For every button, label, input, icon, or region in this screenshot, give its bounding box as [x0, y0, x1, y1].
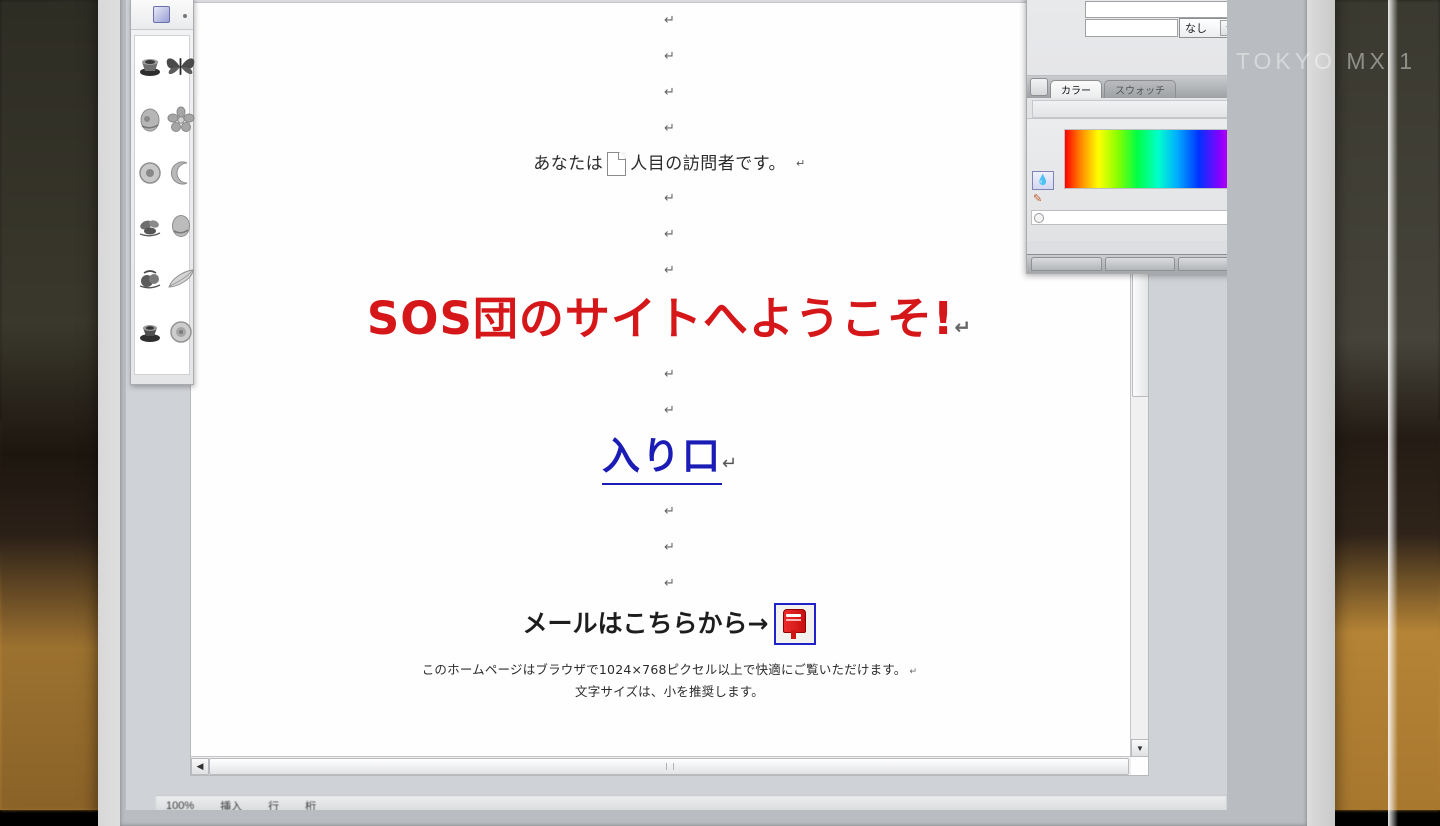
paragraph-mark [191, 39, 1148, 75]
tab-swatch[interactable]: スウォッチ [1104, 80, 1176, 98]
stamp-circle[interactable] [135, 146, 165, 199]
monitor-glass-highlight [1388, 0, 1398, 826]
mailbox-slot-lower [786, 619, 801, 621]
property-field-1[interactable] [1085, 1, 1227, 18]
status-item: 挿入 [220, 798, 242, 810]
paragraph-mark: ↵ [954, 315, 972, 339]
scroll-down-arrow-icon[interactable]: ▼ [1131, 739, 1149, 757]
stamp-cup2[interactable] [135, 305, 165, 358]
panel-bottom-tab[interactable] [1178, 257, 1227, 271]
footer-line-1-text: このホームページはブラウザで1024×768ピクセル以上で快適にご覧いただけます… [422, 662, 907, 677]
style-dropdown-value: なし [1180, 20, 1207, 36]
scroll-thumb-grip [666, 763, 674, 770]
paragraph-mark [191, 253, 1148, 289]
stamp-berry[interactable] [135, 252, 165, 305]
stamp-stone[interactable] [135, 93, 165, 146]
mail-link-text: メールはこちらから→ [523, 602, 769, 646]
panel-handle-icon[interactable] [1030, 78, 1048, 96]
paragraph-mark [191, 530, 1148, 566]
paragraph-mark [191, 181, 1148, 217]
panel-bottom-tab[interactable] [1105, 257, 1176, 271]
palette-stamp-grid[interactable] [134, 35, 190, 375]
footer-line-2-text: 文字サイズは、小を推奨します。 [191, 682, 1148, 701]
stamp-teacup[interactable] [135, 40, 165, 93]
paragraph-mark [191, 217, 1148, 253]
mailbox-icon[interactable] [774, 603, 816, 645]
panel-bottom-tabs[interactable] [1027, 254, 1227, 273]
status-item: 行 [268, 798, 279, 810]
visitor-counter-line: あなたは 人目の訪問者です。 ↵ [191, 147, 1148, 181]
panel-bottom-tab[interactable] [1031, 257, 1102, 271]
page-title-text: SOS団のサイトへようこそ! [367, 292, 955, 345]
stamp-disc[interactable] [165, 305, 197, 358]
right-dark-area [1320, 0, 1440, 810]
color-panel[interactable]: なし ▼ カラー スウォッチ ▸ 💧 ✎ [1026, 0, 1227, 274]
panel-subrow [1032, 100, 1227, 118]
mailbox-post [791, 630, 796, 639]
paragraph-mark [191, 357, 1148, 393]
palette-title-bar[interactable] [131, 0, 193, 30]
stamp-pebble[interactable] [165, 199, 197, 252]
entry-link[interactable]: 入り口 [602, 429, 722, 485]
paragraph-mark [191, 393, 1148, 429]
chevron-down-icon[interactable]: ▼ [1220, 20, 1227, 36]
property-field-2[interactable] [1085, 19, 1178, 37]
paragraph-mark [191, 111, 1148, 147]
paragraph-mark [191, 75, 1148, 111]
footer-note: このホームページはブラウザで1024×768ピクセル以上で快適にご覧いただけます… [191, 660, 1148, 701]
status-bar: 100% 挿入 行 桁 [156, 795, 1226, 810]
color-picker-body[interactable]: 💧 ✎ [1027, 118, 1227, 241]
alpha-strip[interactable] [1031, 210, 1227, 225]
paragraph-mark: ↵ [906, 667, 917, 677]
spacer [191, 646, 1148, 660]
footer-line-1: このホームページはブラウザで1024×768ピクセル以上で快適にご覧いただけます… [191, 660, 1148, 682]
page-title: SOS団のサイトへようこそ!↵ [191, 289, 1148, 357]
web-page-preview[interactable]: あなたは 人目の訪問者です。 ↵ SOS団のサイトへようこそ!↵ 入り口↵ メー… [191, 3, 1148, 775]
hue-spectrum[interactable] [1064, 129, 1227, 189]
horizontal-scrollbar[interactable]: ◀ [191, 756, 1131, 775]
stamp-feather[interactable] [165, 252, 197, 305]
status-item: 桁 [305, 798, 316, 810]
mail-link-line: メールはこちらから→ [191, 602, 1148, 646]
tab-color[interactable]: カラー [1050, 80, 1102, 98]
square-icon[interactable] [153, 6, 170, 23]
eyedropper-icon[interactable]: 💧 [1032, 171, 1054, 190]
paragraph-mark: ↵ [796, 147, 806, 181]
left-dark-area [0, 0, 104, 810]
stamp-butterfly[interactable] [165, 40, 197, 93]
stamp-flower[interactable] [165, 93, 197, 146]
entry-link-line: 入り口↵ [191, 429, 1148, 494]
dot-icon[interactable] [183, 14, 187, 18]
document-canvas[interactable]: あなたは 人目の訪問者です。 ↵ SOS団のサイトへようこそ!↵ 入り口↵ メー… [190, 0, 1149, 776]
editor-screen: あなたは 人目の訪問者です。 ↵ SOS団のサイトへようこそ!↵ 入り口↵ メー… [126, 0, 1227, 810]
stamp-leaf-cluster[interactable] [135, 199, 165, 252]
mailbox-slot [786, 614, 801, 617]
horizontal-scroll-thumb[interactable] [209, 758, 1129, 775]
clipart-palette[interactable] [130, 0, 194, 385]
scroll-left-arrow-icon[interactable]: ◀ [191, 758, 209, 775]
visitor-counter-placeholder-box[interactable] [607, 152, 626, 176]
status-item: 100% [166, 800, 194, 810]
paragraph-mark: ↵ [722, 453, 737, 473]
pencil-icon[interactable]: ✎ [1033, 192, 1048, 206]
color-panel-tabbar[interactable]: カラー スウォッチ ▸ [1027, 76, 1227, 98]
alpha-knob[interactable] [1034, 213, 1044, 223]
paragraph-mark [191, 3, 1148, 39]
visitor-prefix-text: あなたは [533, 147, 603, 181]
visitor-suffix-text: 人目の訪問者です。 [630, 147, 786, 181]
stamp-moon[interactable] [165, 146, 197, 199]
paragraph-mark [191, 566, 1148, 602]
paragraph-mark [191, 494, 1148, 530]
style-dropdown[interactable]: なし ▼ [1179, 18, 1227, 38]
